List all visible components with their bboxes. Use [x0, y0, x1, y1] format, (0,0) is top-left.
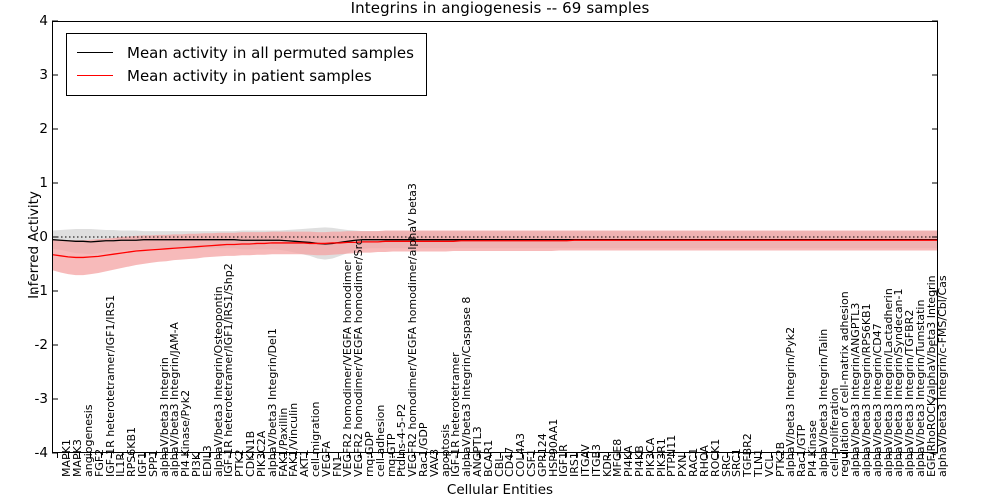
x-axis-tick [544, 453, 545, 458]
x-axis-category-label: alphaV/beta3 Integrin/c-FMS/Cbl/Cas [937, 275, 948, 477]
y-axis-tick-label: 4 [8, 13, 48, 29]
x-axis-tick [684, 453, 685, 458]
y-axis-tick-right [932, 183, 938, 184]
x-axis-tick [241, 453, 242, 458]
x-axis-tick [349, 453, 350, 458]
x-axis-tick [338, 453, 339, 458]
x-axis-tick [835, 453, 836, 458]
x-axis-tick [522, 453, 523, 458]
x-axis-tick [382, 453, 383, 458]
x-axis-tick [760, 453, 761, 458]
x-axis-tick [771, 453, 772, 458]
x-axis-tick [414, 453, 415, 458]
x-axis-tick [436, 453, 437, 458]
x-axis-tick [144, 453, 145, 458]
x-axis-tick [317, 453, 318, 458]
x-axis-tick [198, 453, 199, 458]
y-axis-tick-label: -4 [8, 445, 48, 461]
x-axis-tick [857, 453, 858, 458]
x-axis-tick [554, 453, 555, 458]
y-axis-tick [52, 183, 58, 184]
x-axis-tick [846, 453, 847, 458]
x-axis-title: Cellular Entities [0, 482, 1000, 498]
x-axis-tick [652, 453, 653, 458]
x-axis-tick [911, 453, 912, 458]
x-axis-tick [792, 453, 793, 458]
legend-line-icon-patient [77, 75, 113, 76]
x-axis-tick [738, 453, 739, 458]
x-axis-tick [295, 453, 296, 458]
x-axis-tick [468, 453, 469, 458]
x-axis-tick [284, 453, 285, 458]
x-axis-tick [727, 453, 728, 458]
x-axis-tick [230, 453, 231, 458]
y-axis-tick-right [932, 237, 938, 238]
legend: Mean activity in all permuted samples Me… [66, 33, 427, 96]
x-axis-tick [868, 453, 869, 458]
x-axis-tick [479, 453, 480, 458]
x-axis-tick [446, 453, 447, 458]
x-axis-tick [598, 453, 599, 458]
x-axis-tick [933, 453, 934, 458]
legend-label-permuted: Mean activity in all permuted samples [127, 44, 414, 62]
x-axis-tick [219, 453, 220, 458]
x-axis-tick [587, 453, 588, 458]
x-axis-tick [749, 453, 750, 458]
x-axis-tick [176, 453, 177, 458]
x-axis-tick [533, 453, 534, 458]
x-axis-tick [360, 453, 361, 458]
x-axis-tick [328, 453, 329, 458]
x-axis-tick [306, 453, 307, 458]
x-axis-tick [252, 453, 253, 458]
y-axis-title: Inferred Activity [26, 155, 42, 335]
x-axis-tick [641, 453, 642, 458]
x-axis-tick [662, 453, 663, 458]
x-axis-tick [706, 453, 707, 458]
x-axis-tick [717, 453, 718, 458]
y-axis-tick-label: -2 [8, 337, 48, 353]
x-axis-tick [608, 453, 609, 458]
y-axis-tick [52, 291, 58, 292]
x-axis-tick [500, 453, 501, 458]
x-axis-tick [274, 453, 275, 458]
x-axis-tick [101, 453, 102, 458]
x-axis-tick [565, 453, 566, 458]
x-axis-tick [187, 453, 188, 458]
x-axis-tick [576, 453, 577, 458]
x-axis-tick [425, 453, 426, 458]
x-axis-tick [457, 453, 458, 458]
y-axis-tick-right [932, 21, 938, 22]
x-axis-tick [133, 453, 134, 458]
x-axis-tick [155, 453, 156, 458]
x-axis-tick [630, 453, 631, 458]
legend-item-patient: Mean activity in patient samples [77, 64, 414, 87]
legend-line-icon-permuted [77, 52, 113, 53]
x-axis-tick [57, 453, 58, 458]
x-axis-tick [209, 453, 210, 458]
x-axis-category-label: IGF-1R heterotetramer/IGF1/IRS1/Shp2 [223, 263, 234, 477]
x-axis-tick [403, 453, 404, 458]
y-axis-tick [52, 129, 58, 130]
x-axis-tick [490, 453, 491, 458]
x-axis-tick [68, 453, 69, 458]
x-axis-tick [825, 453, 826, 458]
x-axis-tick [889, 453, 890, 458]
legend-item-permuted: Mean activity in all permuted samples [77, 41, 414, 64]
x-axis-tick [111, 453, 112, 458]
y-axis-tick-label: -3 [8, 391, 48, 407]
x-axis-tick [90, 453, 91, 458]
x-axis-category-label: IGF-1R heterotetramer/IGF1/IRS1 [105, 295, 116, 477]
legend-label-patient: Mean activity in patient samples [127, 67, 372, 85]
x-axis-tick [165, 453, 166, 458]
y-axis-tick [52, 75, 58, 76]
chart-root: Integrins in angiogenesis -- 69 samples … [0, 0, 1000, 500]
x-axis-tick [511, 453, 512, 458]
y-axis-tick-right [932, 129, 938, 130]
x-axis-tick [781, 453, 782, 458]
x-axis-tick [814, 453, 815, 458]
x-axis-tick [900, 453, 901, 458]
x-axis-tick [392, 453, 393, 458]
y-axis-tick [52, 345, 58, 346]
x-axis-tick [79, 453, 80, 458]
x-axis-tick [695, 453, 696, 458]
x-axis-tick [371, 453, 372, 458]
y-axis-tick [52, 399, 58, 400]
y-axis-tick [52, 21, 58, 22]
y-axis-tick [52, 237, 58, 238]
x-axis-tick [122, 453, 123, 458]
x-axis-tick [263, 453, 264, 458]
x-axis-tick [803, 453, 804, 458]
x-axis-tick [673, 453, 674, 458]
y-axis-tick-label: 3 [8, 67, 48, 83]
x-axis-tick [922, 453, 923, 458]
x-axis-tick [619, 453, 620, 458]
y-axis-tick-label: 2 [8, 121, 48, 137]
y-axis-tick-right [932, 75, 938, 76]
x-axis-tick [879, 453, 880, 458]
